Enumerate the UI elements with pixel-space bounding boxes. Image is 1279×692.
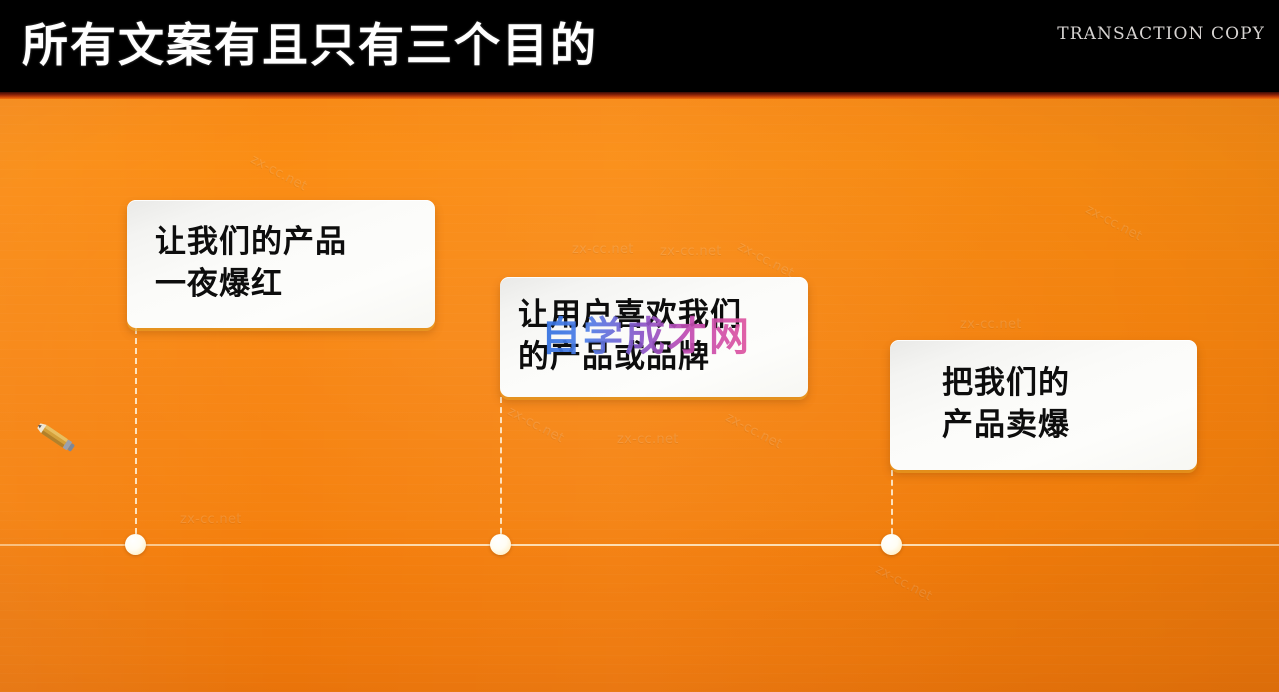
card-3-line-2: 产品卖爆 (942, 405, 1197, 447)
timeline-stem-2 (500, 397, 502, 544)
timeline-node-3[interactable] (881, 534, 902, 555)
tile-watermark: zx-cc.net (660, 244, 722, 259)
header-right-label: TRANSACTION COPY (1057, 24, 1265, 44)
timeline-node-1[interactable] (125, 534, 146, 555)
timeline-node-2[interactable] (490, 534, 511, 555)
site-logo-watermark: 自学成才网 (541, 304, 751, 362)
slide-root: 所有文案有且只有三个目的 TRANSACTION COPY zx-cc.net … (0, 0, 1279, 692)
pencil-icon (34, 418, 78, 454)
tile-watermark: zx-cc.net (572, 242, 634, 257)
header-underline (0, 92, 1279, 99)
card-1-line-2: 一夜爆红 (155, 264, 435, 306)
tile-watermark: zx-cc.net (723, 410, 784, 452)
content-card-1[interactable]: 让我们的产品 一夜爆红 (127, 200, 435, 328)
card-1-line-1: 让我们的产品 (155, 222, 435, 264)
slide-stage: zx-cc.net zx-cc.net zx-cc.net zx-cc.net … (0, 92, 1279, 692)
timeline-baseline (0, 544, 1279, 546)
timeline-stem-1 (135, 328, 137, 544)
tile-watermark: zx-cc.net (873, 562, 934, 604)
tile-watermark: zx-cc.net (505, 404, 566, 446)
tile-watermark: zx-cc.net (960, 317, 1022, 332)
tile-watermark: zx-cc.net (617, 432, 679, 447)
tile-watermark: zx-cc.net (248, 152, 309, 194)
tile-watermark: zx-cc.net (1083, 202, 1144, 244)
timeline-stem-3 (891, 470, 893, 544)
tile-watermark: zx-cc.net (180, 512, 242, 527)
card-3-line-1: 把我们的 (942, 363, 1197, 405)
tile-watermark: zx-cc.net (735, 239, 796, 281)
slide-header: 所有文案有且只有三个目的 TRANSACTION COPY (0, 0, 1279, 92)
content-card-3[interactable]: 把我们的 产品卖爆 (890, 340, 1197, 470)
page-title: 所有文案有且只有三个目的 (22, 6, 598, 84)
